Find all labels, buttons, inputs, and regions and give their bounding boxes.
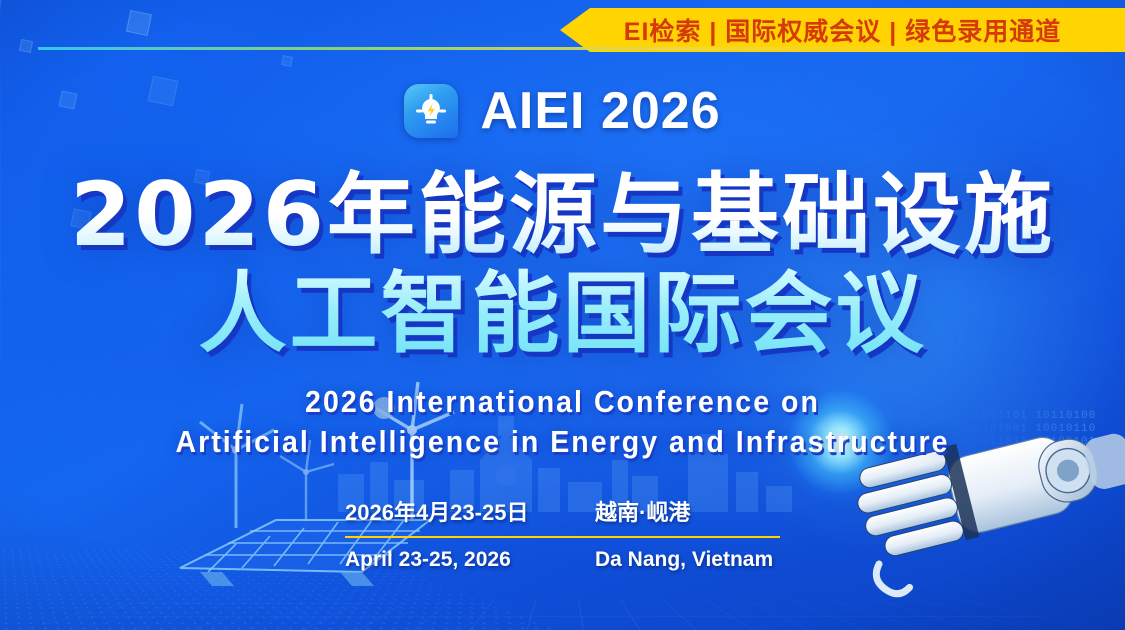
perspective-grid-icon xyxy=(0,599,1125,630)
event-meta-chinese: 2026年4月23-25日 越南·岘港 xyxy=(345,495,785,527)
chinese-title-line2: 人工智能国际会议 xyxy=(0,265,1125,364)
english-title-line1: 2026 International Conference on xyxy=(45,382,1080,422)
ribbon-underline xyxy=(38,47,1085,50)
brand-name: AIEI 2026 xyxy=(480,85,720,137)
english-title-line2: Artificial Intelligence in Energy and In… xyxy=(45,422,1080,462)
event-meta: 2026年4月23-25日 越南·岘港 April 23-25, 2026 Da… xyxy=(345,495,785,572)
chinese-title: 2026年能源与基础设施 人工智能国际会议 xyxy=(0,166,1125,363)
aiei-logo xyxy=(404,84,458,138)
ribbon-shape: EI检索 | 国际权威会议 | 绿色录用通道 xyxy=(560,8,1125,52)
conference-banner: 01001101 10110100 01101001 10010110 0101… xyxy=(0,0,1125,630)
english-title: 2026 International Conference on Artific… xyxy=(0,382,1125,461)
lightbulb-target-bolt-icon xyxy=(412,92,450,130)
event-meta-english: April 23-25, 2026 Da Nang, Vietnam xyxy=(345,548,785,572)
ribbon-label: EI检索 | 国际权威会议 | 绿色录用通道 xyxy=(624,12,1061,48)
event-date-en: April 23-25, 2026 xyxy=(345,548,595,572)
meta-divider xyxy=(345,536,780,538)
brand-row: AIEI 2026 xyxy=(0,84,1125,138)
event-place-cn: 越南·岘港 xyxy=(595,495,690,527)
event-place-en: Da Nang, Vietnam xyxy=(595,548,773,572)
event-date-cn: 2026年4月23-25日 xyxy=(345,495,595,527)
chinese-title-line1: 2026年能源与基础设施 xyxy=(0,166,1125,265)
highlight-ribbon: EI检索 | 国际权威会议 | 绿色录用通道 xyxy=(560,8,1125,60)
